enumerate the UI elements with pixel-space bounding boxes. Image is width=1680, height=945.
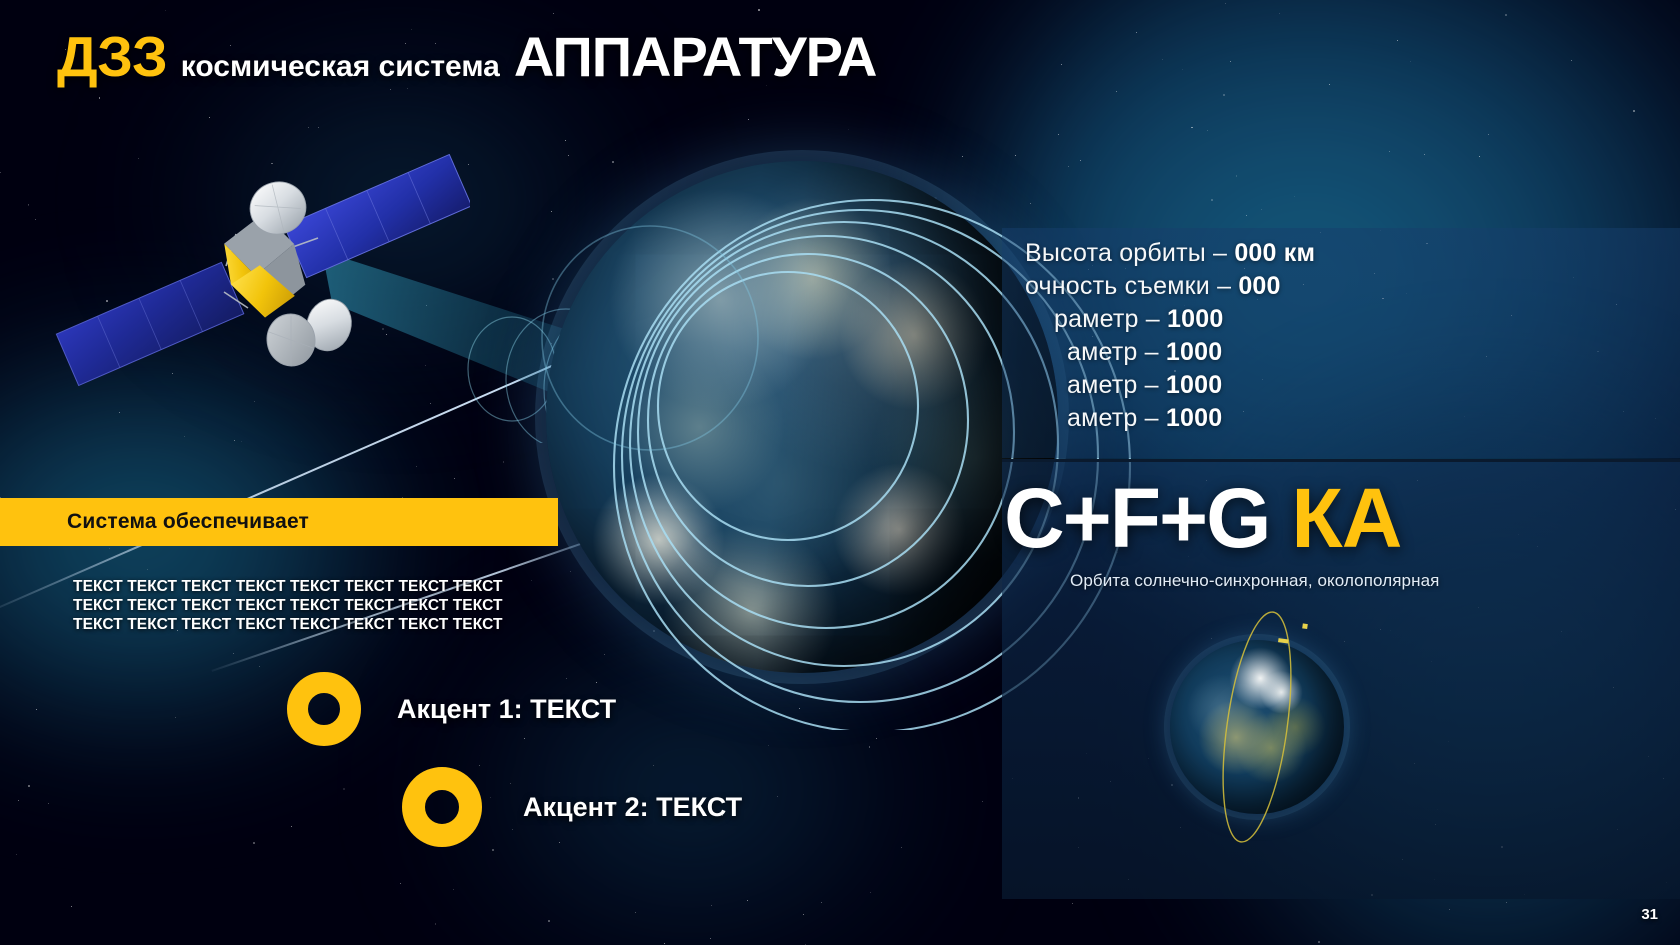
accent-item-1[interactable]: Акцент 1: ТЕКСТ — [287, 672, 616, 746]
spec-line: раметр – 1000 — [1012, 303, 1680, 336]
system-provides-banner: Система обеспечивает — [0, 498, 558, 546]
configuration-highlight: КА — [1291, 470, 1401, 567]
spec-label: аметр – — [1067, 404, 1166, 432]
slide-root: ДЗЗ космическая система АППАРАТУРА Высот… — [0, 0, 1680, 945]
satellite-icon — [50, 118, 470, 418]
orbit-caption: Орбита солнечно-синхронная, околополярна… — [1070, 571, 1439, 591]
banner-label: Система обеспечивает — [0, 510, 309, 534]
configuration-main: C+F+G — [1004, 470, 1269, 567]
spec-list: Высота орбиты – 000 кмочность съемки – 0… — [1002, 237, 1680, 435]
spec-label: аметр – — [1067, 371, 1166, 399]
accent-item-2[interactable]: Акцент 2: ТЕКСТ — [402, 767, 742, 847]
spec-line: аметр – 1000 — [1012, 402, 1680, 435]
earth-globe-icon — [546, 161, 1058, 673]
body-text-block: ТЕКСТ ТЕКСТ ТЕКСТ ТЕКСТ ТЕКСТ ТЕКСТ ТЕКС… — [73, 577, 573, 634]
donut-icon — [402, 767, 482, 847]
configuration-heading: C+F+G КА — [1004, 470, 1680, 567]
spec-line: очность съемки – 000 — [1012, 270, 1680, 303]
spec-label: очность съемки – — [1025, 272, 1238, 300]
accent-label-2: Акцент 2: ТЕКСТ — [523, 792, 742, 823]
body-text-line: ТЕКСТ ТЕКСТ ТЕКСТ ТЕКСТ ТЕКСТ ТЕКСТ ТЕКС… — [73, 596, 573, 615]
spec-line: аметр – 1000 — [1012, 369, 1680, 402]
spec-value: 1000 — [1167, 305, 1223, 333]
spec-label: Высота орбиты – — [1025, 239, 1234, 267]
spec-value: 000 — [1238, 272, 1280, 300]
spec-value: 1000 — [1166, 404, 1222, 432]
spec-line: аметр – 1000 — [1012, 336, 1680, 369]
donut-icon — [287, 672, 361, 746]
title-prefix: ДЗЗ — [57, 24, 167, 90]
orbit-track-icon — [1138, 608, 1376, 846]
accent-label-1: Акцент 1: ТЕКСТ — [397, 694, 616, 725]
spec-label: аметр – — [1067, 338, 1166, 366]
body-text-line: ТЕКСТ ТЕКСТ ТЕКСТ ТЕКСТ ТЕКСТ ТЕКСТ ТЕКС… — [73, 615, 573, 634]
page-title: ДЗЗ космическая система АППАРАТУРА — [57, 24, 876, 90]
spec-value: 1000 — [1166, 338, 1222, 366]
page-number: 31 — [1641, 906, 1658, 923]
spec-value: 1000 — [1166, 371, 1222, 399]
spec-line: Высота орбиты – 000 км — [1012, 237, 1680, 270]
body-text-line: ТЕКСТ ТЕКСТ ТЕКСТ ТЕКСТ ТЕКСТ ТЕКСТ ТЕКС… — [73, 577, 573, 596]
title-middle: космическая система — [181, 50, 500, 84]
title-suffix: АППАРАТУРА — [514, 24, 877, 89]
polar-globe-icon — [1170, 640, 1344, 814]
spec-value: 000 км — [1234, 239, 1315, 267]
spec-label: раметр – — [1054, 305, 1167, 333]
